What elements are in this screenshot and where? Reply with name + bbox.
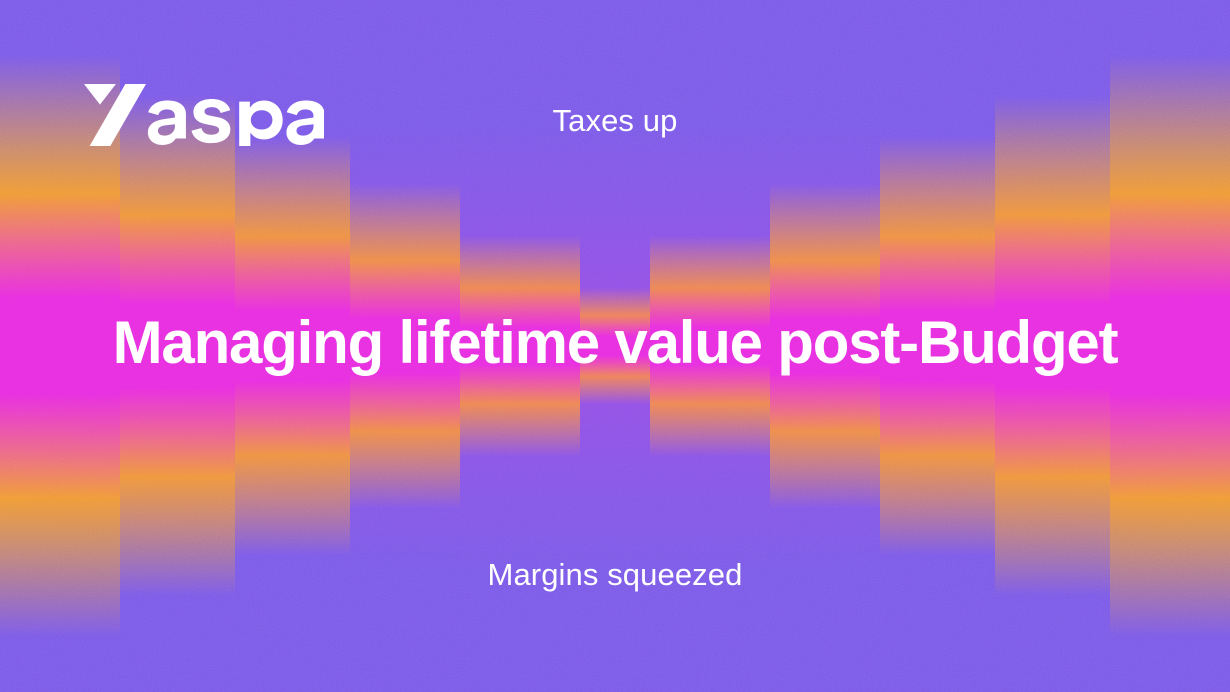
social-graphic-canvas: Taxes up Managing lifetime value post-Bu… xyxy=(0,0,1230,692)
kicker-bottom-text: Margins squeezed xyxy=(0,556,1230,593)
headline-text: Managing lifetime value post-Budget xyxy=(0,310,1230,376)
kicker-top-text: Taxes up xyxy=(0,102,1230,139)
content-layer: Taxes up Managing lifetime value post-Bu… xyxy=(0,0,1230,692)
